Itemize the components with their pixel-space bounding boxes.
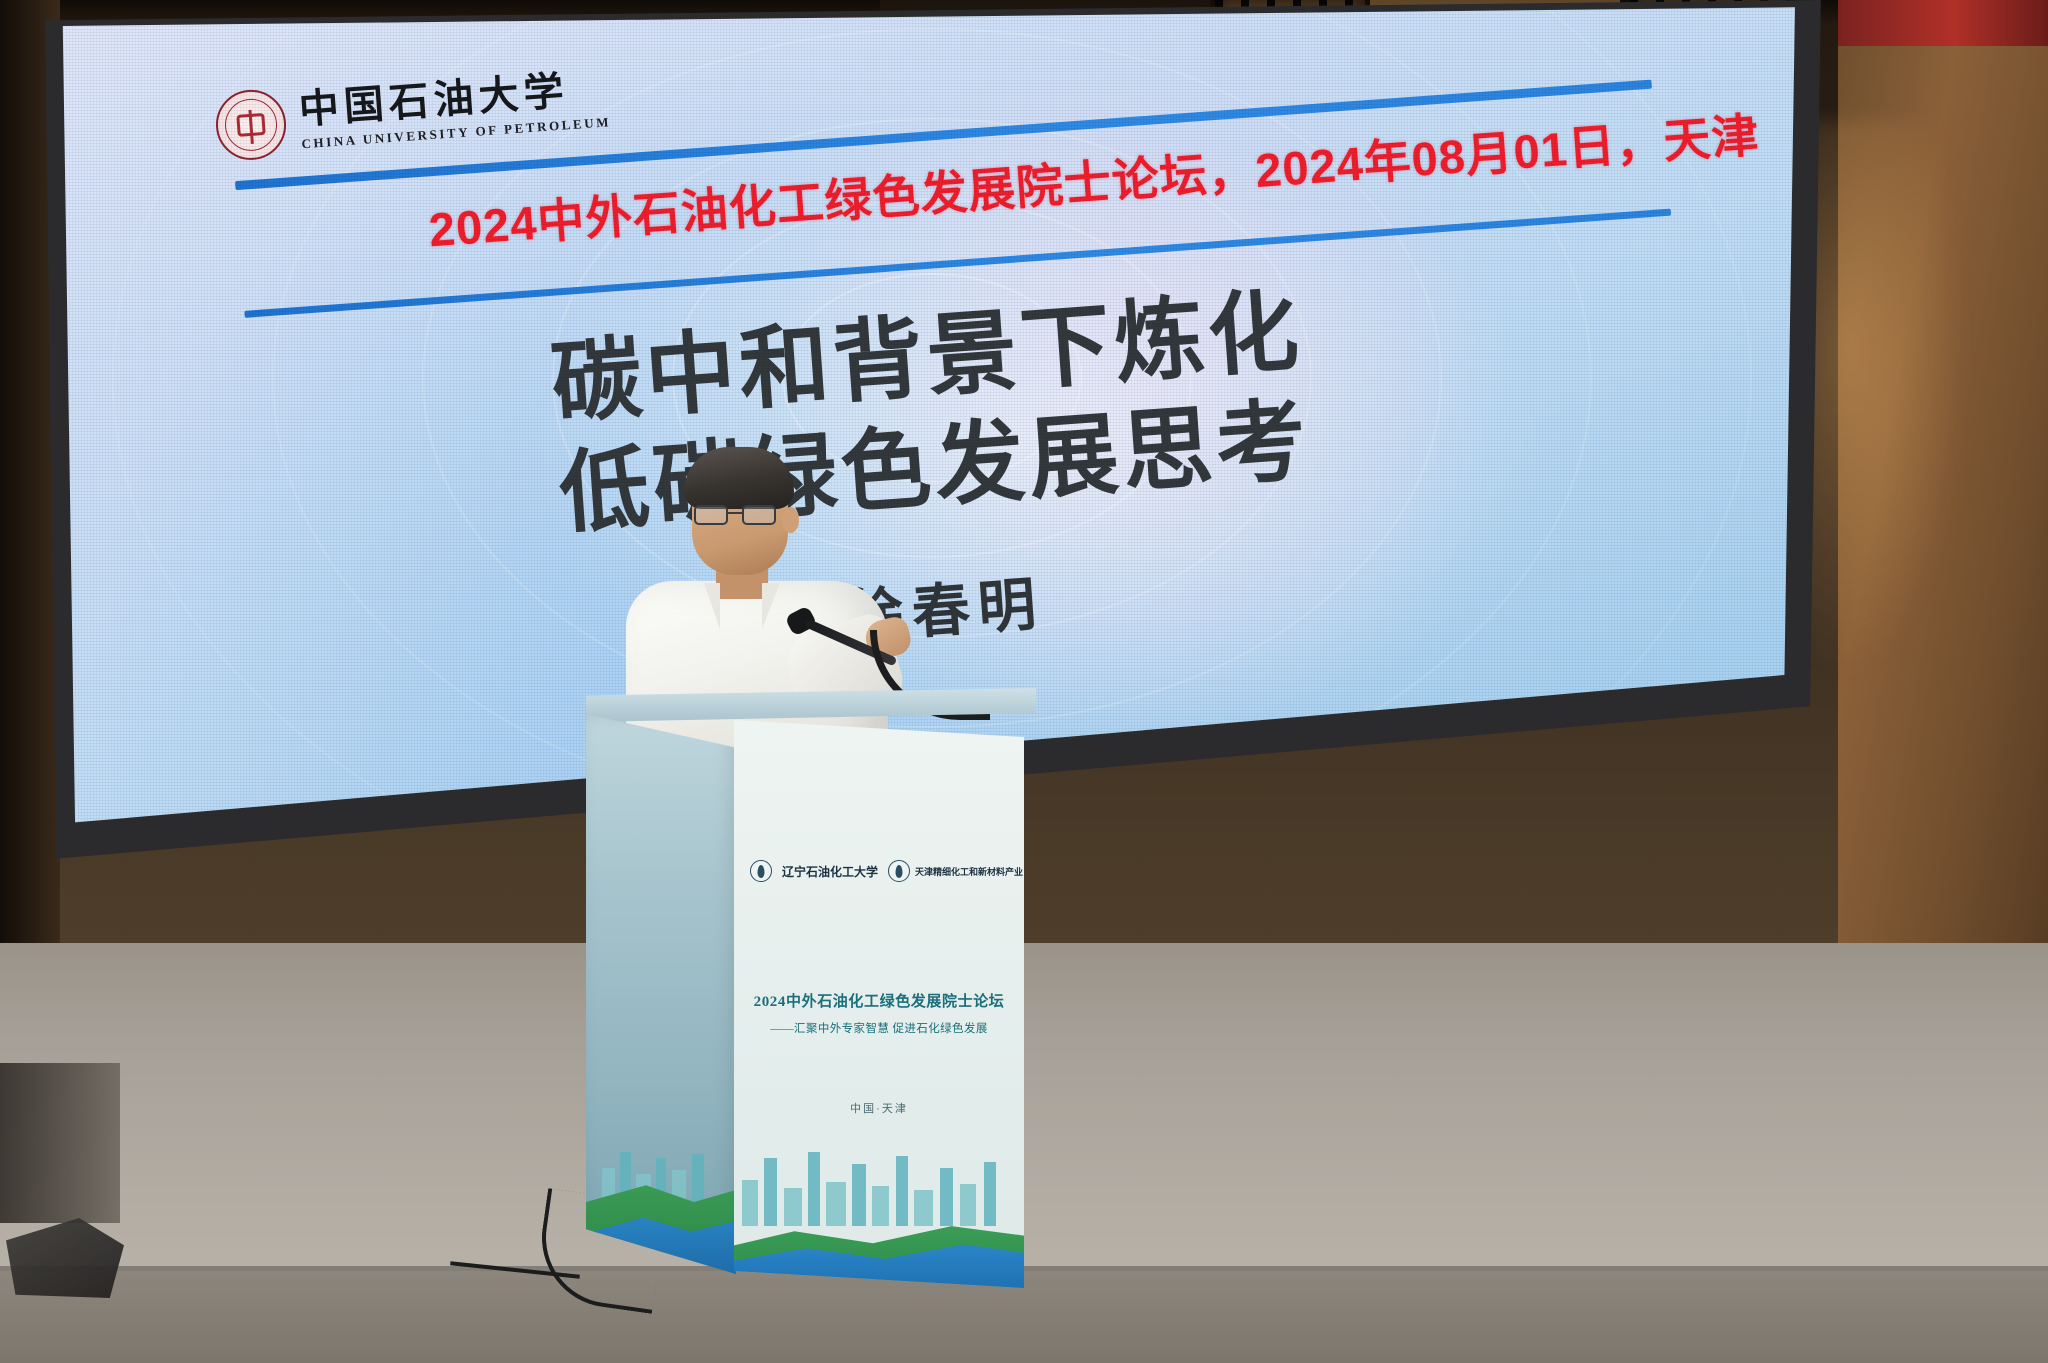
droplet-seal-icon xyxy=(888,860,910,882)
podium-subtitle: ——汇聚中外专家智慧 促进石化绿色发展 xyxy=(734,1020,1024,1036)
speaker-collar-left xyxy=(704,583,720,629)
podium-logo-1-name: 辽宁石油化工大学 xyxy=(782,863,878,880)
university-logo: 中国石油大学 CHINA UNIVERSITY OF PETROLEUM xyxy=(214,64,612,162)
podium-skyline-graphic xyxy=(734,1106,1024,1226)
podium: 辽宁石油化工大学 天津精细化工和新材料产业（人才）联盟 2024中外石油化工绿色… xyxy=(586,688,1036,1288)
speaker-glasses xyxy=(694,505,786,525)
speaker-collar-right xyxy=(762,583,780,629)
speaker-hair xyxy=(684,447,794,509)
podium-logo-2: 天津精细化工和新材料产业（人才）联盟 xyxy=(888,860,1024,882)
podium-side-panel xyxy=(586,714,736,1274)
podium-logo-row: 辽宁石油化工大学 天津精细化工和新材料产业（人才）联盟 xyxy=(750,860,1008,882)
screenshot-stage: 中国石油大学 CHINA UNIVERSITY OF PETROLEUM 202… xyxy=(0,0,2048,1363)
podium-title: 2024中外石油化工绿色发展院士论坛 xyxy=(734,990,1024,1011)
wall-red-accent xyxy=(1838,0,2048,46)
cup-seal-icon xyxy=(214,87,289,162)
university-seal-icon xyxy=(750,860,772,882)
podium-front-panel: 辽宁石油化工大学 天津精细化工和新材料产业（人才）联盟 2024中外石油化工绿色… xyxy=(734,720,1024,1288)
podium-logo-2-name: 天津精细化工和新材料产业（人才）联盟 xyxy=(915,865,1024,878)
podium-top-surface xyxy=(586,688,1036,722)
stage-left-shadow xyxy=(0,1063,120,1223)
